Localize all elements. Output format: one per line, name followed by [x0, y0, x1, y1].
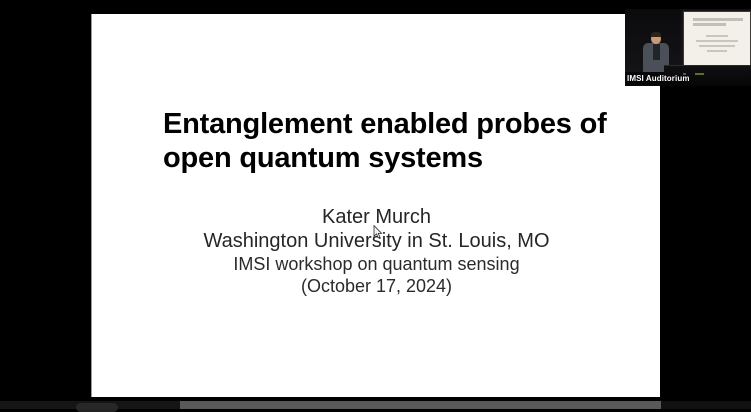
pip-location-label: IMSI Auditorium — [627, 74, 690, 83]
pip-projection-screen — [684, 12, 750, 66]
pip-speaker-shirt — [653, 44, 660, 60]
pip-podium-led-icon — [695, 73, 704, 75]
pip-projected-sub-1 — [706, 35, 728, 37]
slide-title: Entanglement enabled probes of open quan… — [163, 107, 633, 175]
pip-projected-sub-2 — [696, 40, 738, 42]
pip-speaker-hair — [651, 32, 661, 37]
pip-projected-title-line-2 — [693, 23, 726, 26]
slide-title-line-1: Entanglement enabled probes of — [163, 107, 633, 141]
pip-projected-sub-4 — [707, 50, 727, 52]
player-control-knob[interactable] — [76, 403, 118, 412]
player-control-bar[interactable] — [0, 401, 751, 409]
slide-author-name: Kater Murch — [92, 205, 660, 229]
slide-event-name: IMSI workshop on quantum sensing — [92, 253, 660, 275]
slide-event-date: (October 17, 2024) — [92, 275, 660, 297]
pip-projected-sub-3 — [699, 45, 735, 47]
pip-projected-title-line-1 — [693, 18, 743, 21]
pip-projected-slide — [684, 12, 750, 66]
player-progress-track[interactable] — [180, 401, 661, 409]
camera-feed-thumbnail[interactable]: IMSI Auditorium — [625, 9, 751, 86]
slide-affiliation: Washington University in St. Louis, MO — [92, 229, 660, 253]
video-player-viewport[interactable]: Entanglement enabled probes of open quan… — [0, 0, 751, 409]
slide-subtitle: Kater Murch Washington University in St.… — [92, 205, 660, 297]
presentation-slide: Entanglement enabled probes of open quan… — [91, 14, 660, 397]
slide-title-line-2: open quantum systems — [163, 141, 633, 175]
